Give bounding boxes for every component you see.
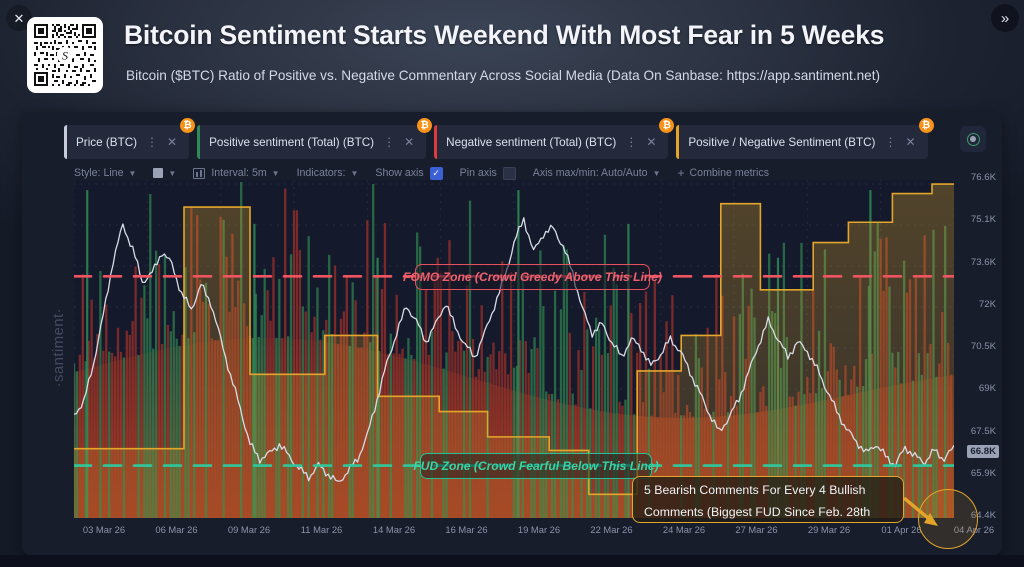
bitcoin-badge-icon: ₿ — [919, 118, 934, 133]
fomo-zone-annotation: FOMO Zone (Crowd Greedy Above This Line) — [415, 264, 650, 290]
axis-minmax-label: Axis max/min: Auto/Auto — [533, 167, 648, 179]
x-axis-tick: 03 Mar 26 — [83, 524, 125, 535]
metric-tab-price[interactable]: Price (BTC) ⋮ ✕ ₿ — [64, 125, 189, 159]
kebab-menu-icon[interactable]: ⋮ — [625, 135, 643, 149]
chevron-down-icon: ▼ — [350, 169, 358, 178]
indicators-selector[interactable]: Indicators: ▼ — [297, 167, 359, 179]
y-axis-tick: 76.6K — [971, 172, 996, 183]
checkmark-icon: ✓ — [430, 167, 443, 180]
x-axis-tick: 27 Mar 26 — [735, 524, 777, 535]
close-icon[interactable]: ✕ — [902, 135, 924, 149]
fud-callout-annotation: 5 Bearish Comments For Every 4 Bullish C… — [632, 476, 904, 523]
x-axis-tick: 06 Mar 26 — [155, 524, 197, 535]
x-axis-tick: 11 Mar 26 — [301, 524, 343, 535]
combine-metrics-label: Combine metrics — [690, 167, 769, 179]
combine-metrics-button[interactable]: + Combine metrics — [678, 166, 770, 180]
fud-zone-annotation: FUD Zone (Crowd Fearful Below This Line) — [420, 453, 652, 479]
y-axis-right: 76.6K75.1K73.6K72K70.5K69K67.5K65.9K64.4… — [954, 172, 1002, 524]
header: ✕ » — [0, 0, 1024, 108]
x-axis-tick: 22 Mar 26 — [590, 524, 632, 535]
chevron-down-icon: ▼ — [168, 169, 176, 178]
highlight-marker-circle — [918, 489, 978, 549]
qr-code-icon: S — [27, 17, 103, 93]
y-axis-tick: 70.5K — [971, 341, 996, 352]
fud-callout-line-2: Comments (Biggest FUD Since Feb. 28th — [644, 502, 892, 524]
axis-minmax-selector[interactable]: Axis max/min: Auto/Auto ▼ — [533, 167, 661, 179]
pin-axis-label: Pin axis — [460, 167, 497, 179]
y-axis-tick: 65.9K — [971, 468, 996, 479]
santiment-watermark-left: ·santiment· — [50, 308, 67, 387]
show-axis-label: Show axis — [375, 167, 423, 179]
screenshot-root: ✕ » — [0, 0, 1024, 567]
show-axis-toggle[interactable]: Show axis ✓ — [375, 167, 442, 180]
metric-tab-positive-sentiment[interactable]: Positive sentiment (Total) (BTC) ⋮ ✕ ₿ — [197, 125, 426, 159]
svg-text:S: S — [62, 48, 68, 62]
close-icon[interactable]: ✕ — [164, 135, 186, 149]
kebab-menu-icon[interactable]: ⋮ — [146, 135, 164, 149]
qr-code-svg: S — [32, 22, 98, 88]
x-axis-tick: 29 Mar 26 — [808, 524, 850, 535]
x-axis-tick: 19 Mar 26 — [518, 524, 560, 535]
chevron-down-icon: ▼ — [653, 169, 661, 178]
bottom-strip — [0, 555, 1024, 567]
page-subtitle: Bitcoin ($BTC) Ratio of Positive vs. Neg… — [126, 68, 1006, 83]
metric-tab-label: Price (BTC) — [67, 136, 146, 149]
color-selector[interactable]: ▼ — [153, 168, 176, 178]
metric-tab-pos-neg-sentiment[interactable]: Positive / Negative Sentiment (BTC) ⋮ ✕ … — [676, 125, 927, 159]
current-price-badge: 66.8K — [967, 445, 999, 458]
plus-icon: + — [678, 166, 685, 180]
y-axis-tick: 75.1K — [971, 214, 996, 225]
metric-tab-label: Negative sentiment (Total) (BTC) — [437, 136, 625, 149]
x-axis-bottom: 03 Mar 2606 Mar 2609 Mar 2611 Mar 2614 M… — [74, 524, 1004, 540]
checkbox-empty-icon — [503, 167, 516, 180]
color-swatch-icon — [153, 168, 163, 178]
metric-tab-label: Positive sentiment (Total) (BTC) — [200, 136, 383, 149]
metric-tab-negative-sentiment[interactable]: Negative sentiment (Total) (BTC) ⋮ ✕ ₿ — [434, 125, 668, 159]
kebab-menu-icon[interactable]: ⋮ — [884, 135, 902, 149]
bitcoin-badge-icon: ₿ — [180, 118, 195, 133]
close-icon[interactable]: ✕ — [401, 135, 423, 149]
indicators-label: Indicators: — [297, 167, 346, 179]
bitcoin-badge-icon: ₿ — [659, 118, 674, 133]
metric-tab-label: Positive / Negative Sentiment (BTC) — [679, 136, 884, 149]
record-dot-icon[interactable] — [960, 126, 986, 152]
x-axis-tick: 16 Mar 26 — [445, 524, 487, 535]
pin-axis-toggle[interactable]: Pin axis — [460, 167, 516, 180]
kebab-menu-icon[interactable]: ⋮ — [383, 135, 401, 149]
fud-callout-line-1: 5 Bearish Comments For Every 4 Bullish — [644, 480, 892, 502]
bitcoin-badge-icon: ₿ — [417, 118, 432, 133]
page-title: Bitcoin Sentiment Starts Weekend With Mo… — [124, 20, 1014, 51]
x-axis-tick: 14 Mar 26 — [373, 524, 415, 535]
chevron-down-icon: ▼ — [272, 169, 280, 178]
record-ring — [967, 133, 980, 146]
close-icon[interactable]: ✕ — [643, 135, 665, 149]
x-axis-tick: 09 Mar 26 — [228, 524, 270, 535]
metric-tabs: Price (BTC) ⋮ ✕ ₿ Positive sentiment (To… — [64, 125, 936, 159]
chevron-down-icon: ▼ — [128, 169, 136, 178]
y-axis-tick: 67.5K — [971, 426, 996, 437]
interval-selector[interactable]: Interval: 5m ▼ — [193, 167, 279, 179]
y-axis-tick: 69K — [979, 383, 996, 394]
y-axis-tick: 73.6K — [971, 257, 996, 268]
interval-label: Interval: 5m — [211, 167, 266, 179]
x-axis-tick: 24 Mar 26 — [663, 524, 705, 535]
style-selector[interactable]: Style: Line ▼ — [74, 167, 136, 179]
candlestick-icon — [193, 168, 205, 179]
style-label: Style: Line — [74, 167, 123, 179]
y-axis-tick: 72K — [979, 299, 996, 310]
